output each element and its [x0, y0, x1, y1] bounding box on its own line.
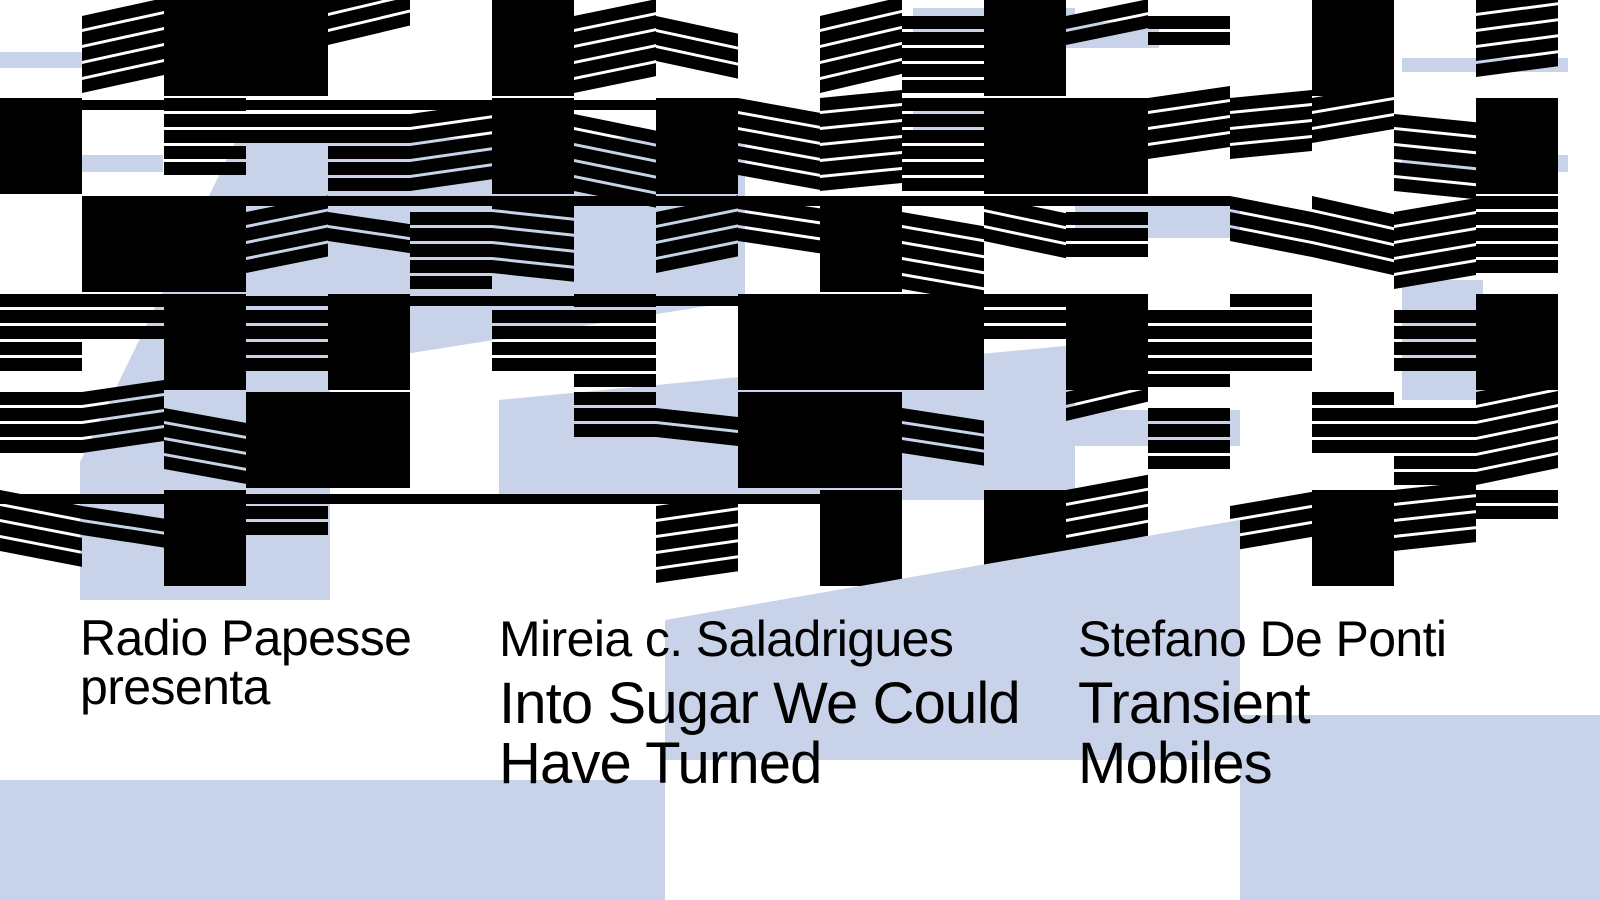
- glitch-bar: [984, 522, 1066, 538]
- glitch-bar: [328, 424, 410, 440]
- glitch-bar: [1394, 310, 1476, 323]
- glitch-bar: [164, 554, 246, 570]
- glitch-bar: [820, 244, 902, 260]
- glitch-bar: [902, 358, 984, 374]
- glitch-bar: [1148, 408, 1230, 421]
- glitch-bar: [1148, 326, 1230, 339]
- glitch-bar: [164, 570, 246, 586]
- glitch-bar: [902, 178, 984, 191]
- artist-credit-2: Stefano De Ponti Transient Mobiles: [1078, 614, 1446, 794]
- glitch-bar: [1476, 490, 1558, 503]
- glitch-bar: [984, 114, 1066, 130]
- glitch-bar: [164, 130, 246, 143]
- glitch-bar: [1394, 424, 1476, 437]
- glitch-bar: [492, 178, 574, 194]
- glitch-bar: [1394, 456, 1476, 469]
- glitch-bar: [984, 16, 1066, 32]
- glitch-bar: [902, 16, 984, 29]
- glitch-bar: [0, 162, 82, 178]
- glitch-bar: [246, 326, 328, 339]
- glitch-bar: [328, 342, 410, 358]
- glitch-bar: [164, 310, 246, 326]
- glitch-bar: [820, 424, 902, 440]
- glitch-bar: [574, 424, 656, 437]
- glitch-bar: [902, 162, 984, 175]
- glitch-bar: [1476, 326, 1558, 342]
- glitch-bar: [820, 310, 902, 326]
- glitch-bar: [984, 162, 1066, 178]
- glitch-bar: [738, 456, 820, 472]
- glitch-bar: [1312, 64, 1394, 80]
- glitch-bar: [164, 48, 246, 64]
- glitch-bar: [1394, 440, 1476, 453]
- glitch-bar: [1476, 358, 1558, 374]
- glitch-rule: [246, 196, 1230, 206]
- glitch-bar: [574, 392, 656, 405]
- glitch-bar: [410, 244, 492, 257]
- poster-canvas: Radio Papesse presenta Mireia c. Saladri…: [0, 0, 1600, 900]
- glitch-bar: [1476, 98, 1558, 114]
- glitch-bar: [1312, 48, 1394, 64]
- glitch-bar: [984, 64, 1066, 80]
- glitch-bar: [82, 260, 164, 276]
- glitch-bar: [1312, 490, 1394, 506]
- glitch-bar: [82, 196, 164, 212]
- glitch-bar: [246, 506, 328, 519]
- glitch-bar: [1476, 260, 1558, 273]
- glitch-bar: [1312, 538, 1394, 554]
- glitch-bar: [492, 310, 574, 323]
- glitch-bar: [82, 244, 164, 260]
- glitch-bar: [164, 522, 246, 538]
- glitch-bar: [492, 326, 574, 339]
- glitch-bar: [1476, 294, 1558, 310]
- glitch-bar: [1312, 570, 1394, 586]
- glitch-bar: [0, 392, 82, 405]
- glitch-bar: [410, 260, 492, 273]
- glitch-bar: [492, 130, 574, 146]
- glitch-bar: [246, 80, 328, 96]
- glitch-bar: [902, 80, 984, 93]
- glitch-bar: [246, 358, 328, 371]
- glitch-bar: [1312, 424, 1394, 437]
- glitch-bar: [328, 408, 410, 424]
- glitch-bar: [164, 80, 246, 96]
- glitch-bar: [902, 374, 984, 390]
- glitch-bar: [1476, 146, 1558, 162]
- glitch-bar: [164, 114, 246, 127]
- glitch-bar: [902, 32, 984, 45]
- glitch-bar: [328, 440, 410, 456]
- glitch-bar: [328, 114, 410, 127]
- glitch-bar: [246, 408, 328, 424]
- glitch-bar: [820, 342, 902, 358]
- glitch-bar: [902, 146, 984, 159]
- glitch-bar: [164, 228, 246, 244]
- glitch-bar: [0, 146, 82, 162]
- glitch-bar: [246, 424, 328, 440]
- glitch-bar: [1312, 32, 1394, 48]
- glitch-bar: [492, 64, 574, 80]
- glitch-bar: [164, 16, 246, 32]
- glitch-bar: [164, 506, 246, 522]
- glitch-bar: [656, 98, 738, 114]
- glitch-bar: [328, 358, 410, 374]
- glitch-bar: [820, 408, 902, 424]
- glitch-bar: [164, 358, 246, 374]
- glitch-bar: [0, 440, 82, 453]
- glitch-bar: [1066, 130, 1148, 146]
- glitch-bar: [164, 276, 246, 292]
- glitch-bar: [492, 0, 574, 16]
- glitch-bar: [410, 228, 492, 241]
- glitch-bar: [246, 48, 328, 64]
- glitch-bar: [1148, 342, 1230, 355]
- glitch-bar: [492, 80, 574, 96]
- glitch-bar: [820, 456, 902, 472]
- artist-credit-1: Mireia c. Saladrigues Into Sugar We Coul…: [499, 614, 1020, 794]
- glitch-bar: [492, 162, 574, 178]
- glitch-bar: [164, 212, 246, 228]
- glitch-bar: [574, 358, 656, 371]
- artist-work-2: Transient Mobiles: [1078, 674, 1446, 794]
- glitch-bar: [1312, 440, 1394, 453]
- glitch-bar: [1476, 212, 1558, 225]
- glitch-bar: [1066, 326, 1148, 342]
- glitch-bar: [164, 326, 246, 342]
- glitch-bar: [820, 260, 902, 276]
- glitch-bar: [1066, 162, 1148, 178]
- glitch-bar: [328, 392, 410, 408]
- glitch-bar: [1312, 16, 1394, 32]
- glitch-bar: [0, 408, 82, 421]
- glitch-bar: [1066, 98, 1148, 114]
- glitch-bar: [328, 326, 410, 342]
- glitch-bar: [738, 374, 820, 390]
- glitch-bar: [1230, 342, 1312, 355]
- glitch-bar: [1066, 178, 1148, 194]
- glitch-bar: [328, 310, 410, 326]
- glitch-rule: [0, 100, 656, 110]
- glitch-bar: [820, 358, 902, 374]
- glitch-bar: [1312, 506, 1394, 522]
- glitch-bar: [1312, 522, 1394, 538]
- glitch-bar: [820, 472, 902, 488]
- glitch-bar: [82, 326, 164, 339]
- glitch-bar: [1230, 358, 1312, 371]
- glitch-bar: [82, 212, 164, 228]
- glitch-bar: [902, 64, 984, 77]
- glitch-bar: [574, 326, 656, 339]
- glitch-bar: [574, 374, 656, 387]
- glitch-bar: [1066, 358, 1148, 374]
- glitch-bar: [902, 342, 984, 358]
- glitch-bar: [410, 212, 492, 225]
- glitch-bar: [984, 48, 1066, 64]
- glitch-bar: [820, 374, 902, 390]
- glitch-bar: [738, 472, 820, 488]
- glitch-bar: [738, 392, 820, 408]
- glitch-bar: [1148, 440, 1230, 453]
- glitch-bar: [902, 326, 984, 342]
- presenter-name: Radio Papesse presenta: [80, 614, 411, 712]
- glitch-bar: [984, 32, 1066, 48]
- glitch-bar: [738, 424, 820, 440]
- glitch-bar: [1394, 408, 1476, 421]
- glitch-bar: [1066, 310, 1148, 326]
- glitch-bar: [82, 310, 164, 323]
- glitch-bar: [902, 98, 984, 111]
- glitch-bar: [738, 440, 820, 456]
- glitch-bar: [656, 178, 738, 194]
- glitch-bar: [1148, 456, 1230, 469]
- glitch-bar: [1312, 408, 1394, 421]
- glitch-bar: [574, 408, 656, 421]
- bar-left-b: [0, 52, 82, 68]
- glitch-bar: [246, 456, 328, 472]
- glitch-bar: [82, 276, 164, 292]
- glitch-bar: [820, 212, 902, 228]
- glitch-bar: [1394, 342, 1476, 355]
- glitch-bar: [1476, 342, 1558, 358]
- glitch-rule: [0, 296, 1066, 306]
- glitch-bar: [0, 342, 82, 355]
- glitch-bar: [0, 310, 82, 323]
- glitch-bar: [984, 326, 1066, 339]
- glitch-bar: [246, 342, 328, 355]
- glitch-bar: [1066, 212, 1148, 225]
- glitch-bar: [246, 114, 328, 127]
- glitch-bar: [1066, 228, 1148, 241]
- glitch-bar: [1230, 326, 1312, 339]
- glitch-bar: [328, 130, 410, 143]
- glitch-bar: [246, 522, 328, 535]
- glitch-bar: [0, 358, 82, 371]
- glitch-rule: [0, 494, 820, 504]
- glitch-bar: [820, 490, 902, 506]
- artist-name-2: Stefano De Ponti: [1078, 614, 1446, 664]
- glitch-bar: [164, 374, 246, 390]
- glitch-bar: [1148, 310, 1230, 323]
- glitch-bar: [164, 538, 246, 554]
- glitch-bar: [492, 16, 574, 32]
- artist-work-1: Into Sugar We Could Have Turned: [499, 674, 1020, 794]
- glitch-bar: [328, 146, 410, 159]
- glitch-bar: [328, 472, 410, 488]
- glitch-bar: [820, 440, 902, 456]
- glitch-bar: [492, 358, 574, 371]
- band-bottom-left: [0, 780, 665, 900]
- bar-left-a: [82, 155, 163, 172]
- glitch-bar: [1476, 196, 1558, 209]
- glitch-bar: [738, 326, 820, 342]
- glitch-bar: [492, 146, 574, 162]
- glitch-bar: [984, 0, 1066, 16]
- presenter-credit: Radio Papesse presenta: [80, 614, 411, 712]
- glitch-bar: [1066, 244, 1148, 257]
- glitch-bar: [0, 326, 82, 339]
- glitch-bar: [328, 374, 410, 390]
- glitch-bar: [1066, 294, 1148, 310]
- glitch-bar: [328, 178, 410, 191]
- glitch-bar: [738, 358, 820, 374]
- glitch-bar: [1230, 310, 1312, 323]
- glitch-bar: [1148, 374, 1230, 387]
- glitch-bar: [1476, 506, 1558, 519]
- glitch-bar: [984, 538, 1066, 554]
- glitch-bar: [1066, 146, 1148, 162]
- glitch-bar: [574, 342, 656, 355]
- glitch-bar: [902, 114, 984, 127]
- glitch-bar: [820, 554, 902, 570]
- glitch-bar: [656, 162, 738, 178]
- glitch-bar: [164, 196, 246, 212]
- glitch-bar: [1476, 130, 1558, 146]
- glitch-bar: [984, 178, 1066, 194]
- glitch-bar: [246, 440, 328, 456]
- glitch-bar: [0, 178, 82, 194]
- glitch-bar: [738, 310, 820, 326]
- glitch-bar: [1230, 294, 1312, 307]
- glitch-bar: [164, 146, 246, 159]
- glitch-bar: [1148, 16, 1230, 29]
- glitch-bar: [1148, 32, 1230, 45]
- glitch-bar: [820, 506, 902, 522]
- glitch-bar: [328, 162, 410, 175]
- glitch-bar: [164, 32, 246, 48]
- glitch-bar: [902, 310, 984, 326]
- glitch-bar: [984, 98, 1066, 114]
- glitch-bar: [656, 146, 738, 162]
- glitch-bar: [984, 506, 1066, 522]
- glitch-bar: [1312, 0, 1394, 16]
- glitch-bar: [984, 146, 1066, 162]
- glitch-bar: [902, 130, 984, 143]
- glitch-bar: [1148, 358, 1230, 371]
- glitch-bar: [164, 64, 246, 80]
- glitch-bar: [984, 130, 1066, 146]
- glitch-bar: [328, 456, 410, 472]
- glitch-bar: [984, 310, 1066, 323]
- glitch-bar: [820, 276, 902, 292]
- quad-right-tall: [1402, 280, 1483, 400]
- glitch-bar: [492, 48, 574, 64]
- glitch-bar: [492, 32, 574, 48]
- glitch-bar: [1312, 392, 1394, 405]
- glitch-bar: [246, 472, 328, 488]
- glitch-bar: [984, 490, 1066, 506]
- glitch-bar: [246, 392, 328, 408]
- glitch-bar: [0, 130, 82, 146]
- glitch-bar: [1312, 554, 1394, 570]
- glitch-bar: [820, 392, 902, 408]
- glitch-bar: [246, 16, 328, 32]
- artist-name-1: Mireia c. Saladrigues: [499, 614, 1020, 664]
- glitch-bar: [738, 408, 820, 424]
- glitch-bar: [574, 310, 656, 323]
- glitch-bar: [1476, 244, 1558, 257]
- glitch-bar: [1394, 326, 1476, 339]
- glitch-bar: [984, 80, 1066, 96]
- glitch-bar: [1148, 424, 1230, 437]
- glitch-bar: [1476, 310, 1558, 326]
- glitch-bar: [0, 114, 82, 130]
- glitch-bar: [820, 538, 902, 554]
- glitch-bar: [820, 228, 902, 244]
- glitch-bar: [738, 342, 820, 358]
- glitch-bar: [246, 32, 328, 48]
- glitch-bar: [246, 310, 328, 323]
- glitch-bar: [1476, 178, 1558, 194]
- glitch-bar: [164, 0, 246, 16]
- glitch-bar: [1394, 358, 1476, 371]
- glitch-bar: [1476, 114, 1558, 130]
- glitch-bar: [1476, 228, 1558, 241]
- glitch-bar: [164, 244, 246, 260]
- glitch-bar: [246, 0, 328, 16]
- glitch-bar: [410, 276, 492, 289]
- glitch-bar: [0, 424, 82, 437]
- glitch-bar: [1066, 114, 1148, 130]
- glitch-bar: [164, 260, 246, 276]
- glitch-bar: [246, 130, 328, 143]
- glitch-bar: [820, 326, 902, 342]
- glitch-bar: [82, 228, 164, 244]
- glitch-bar: [492, 342, 574, 355]
- glitch-bar: [164, 342, 246, 358]
- glitch-bar: [820, 522, 902, 538]
- glitch-bar: [246, 64, 328, 80]
- glitch-bar: [656, 114, 738, 130]
- glitch-bar: [656, 130, 738, 146]
- glitch-bar: [902, 48, 984, 61]
- glitch-bar: [164, 162, 246, 175]
- glitch-bar: [492, 114, 574, 130]
- glitch-bar: [1476, 162, 1558, 178]
- glitch-bar: [1066, 342, 1148, 358]
